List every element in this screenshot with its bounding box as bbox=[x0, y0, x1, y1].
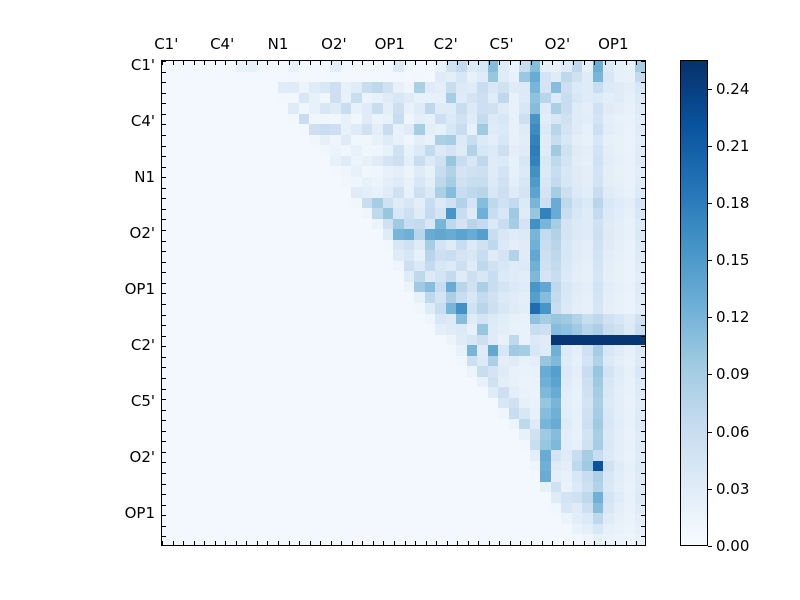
heatmap-cell bbox=[362, 219, 373, 230]
x-tick-top bbox=[499, 61, 500, 65]
x-tick-bottom bbox=[183, 541, 184, 545]
y-tick-label: OP1 bbox=[125, 280, 155, 298]
heatmap-cell bbox=[446, 82, 457, 93]
heatmap-cell bbox=[225, 61, 236, 72]
heatmap-cell bbox=[299, 492, 310, 503]
y-tick-label: C1' bbox=[131, 56, 155, 74]
heatmap-cell bbox=[435, 103, 446, 114]
heatmap-cell bbox=[467, 429, 478, 440]
heatmap-cell bbox=[257, 398, 268, 409]
y-tick-left bbox=[162, 526, 166, 527]
heatmap-cell bbox=[414, 471, 425, 482]
x-tick-top bbox=[605, 61, 606, 65]
heatmap-cell bbox=[204, 208, 215, 219]
heatmap-cell bbox=[456, 261, 467, 272]
heatmap-cell bbox=[246, 198, 257, 209]
heatmap-cell bbox=[414, 229, 425, 240]
heatmap-cell bbox=[530, 482, 541, 493]
heatmap-cell bbox=[414, 429, 425, 440]
heatmap-cell bbox=[414, 408, 425, 419]
heatmap-cell bbox=[551, 135, 562, 146]
heatmap-cell bbox=[414, 513, 425, 524]
heatmap-cell bbox=[593, 198, 604, 209]
heatmap-cell bbox=[246, 335, 257, 346]
heatmap-cell bbox=[624, 408, 635, 419]
heatmap-cell bbox=[635, 166, 646, 177]
heatmap-cell bbox=[446, 492, 457, 503]
heatmap-axes[interactable] bbox=[161, 60, 646, 546]
heatmap-cell bbox=[225, 356, 236, 367]
heatmap-cell bbox=[551, 471, 562, 482]
x-tick-top bbox=[563, 61, 564, 65]
heatmap-cell bbox=[173, 534, 184, 545]
heatmap-cell bbox=[309, 503, 320, 514]
heatmap-cell bbox=[540, 450, 551, 461]
heatmap-cell bbox=[330, 292, 341, 303]
y-tick-right bbox=[641, 272, 645, 273]
heatmap-cell bbox=[267, 145, 278, 156]
heatmap-cell bbox=[582, 177, 593, 188]
heatmap-cell bbox=[467, 503, 478, 514]
heatmap-cell bbox=[257, 450, 268, 461]
heatmap-cell bbox=[572, 461, 583, 472]
heatmap-cell bbox=[404, 250, 415, 261]
heatmap-cell bbox=[593, 440, 604, 451]
heatmap-cell bbox=[530, 229, 541, 240]
heatmap-cell bbox=[288, 61, 299, 72]
heatmap-cell bbox=[414, 377, 425, 388]
heatmap-cell bbox=[215, 366, 226, 377]
heatmap-cell bbox=[194, 440, 205, 451]
y-tick-right bbox=[641, 93, 645, 94]
heatmap-cell bbox=[183, 135, 194, 146]
heatmap-cell bbox=[561, 198, 572, 209]
heatmap-cell bbox=[509, 250, 520, 261]
heatmap-cell bbox=[404, 271, 415, 282]
heatmap-cell bbox=[624, 419, 635, 430]
heatmap-cell bbox=[383, 503, 394, 514]
heatmap-cell bbox=[488, 187, 499, 198]
heatmap-cell bbox=[425, 471, 436, 482]
heatmap-cell bbox=[320, 166, 331, 177]
heatmap-cell bbox=[530, 93, 541, 104]
heatmap-cell bbox=[162, 156, 173, 167]
x-tick-bottom bbox=[320, 541, 321, 545]
heatmap-cell bbox=[446, 482, 457, 493]
y-tick-right bbox=[641, 241, 645, 242]
heatmap-cell bbox=[488, 103, 499, 114]
heatmap-cell bbox=[498, 93, 509, 104]
y-tick-right bbox=[641, 135, 645, 136]
heatmap-cell bbox=[267, 345, 278, 356]
heatmap-cell bbox=[551, 72, 562, 83]
heatmap-cell bbox=[393, 208, 404, 219]
heatmap-cell bbox=[614, 103, 625, 114]
heatmap-cell bbox=[341, 324, 352, 335]
heatmap-cell bbox=[351, 345, 362, 356]
x-tick-top bbox=[405, 61, 406, 65]
heatmap-cell bbox=[561, 503, 572, 514]
heatmap-cell bbox=[509, 314, 520, 325]
heatmap-cell bbox=[299, 513, 310, 524]
heatmap-cell bbox=[309, 187, 320, 198]
heatmap-cell bbox=[309, 303, 320, 314]
heatmap-cell bbox=[435, 82, 446, 93]
heatmap-cell bbox=[204, 177, 215, 188]
heatmap-cell bbox=[246, 513, 257, 524]
heatmap-cell bbox=[540, 166, 551, 177]
heatmap-cell bbox=[477, 345, 488, 356]
heatmap-cell bbox=[425, 524, 436, 535]
heatmap-cell bbox=[288, 261, 299, 272]
heatmap-cell bbox=[351, 377, 362, 388]
heatmap-cell bbox=[278, 177, 289, 188]
heatmap-cell bbox=[467, 440, 478, 451]
heatmap-cell bbox=[299, 303, 310, 314]
heatmap-cell bbox=[540, 72, 551, 83]
heatmap-cell bbox=[299, 314, 310, 325]
heatmap-cell bbox=[425, 156, 436, 167]
heatmap-cell bbox=[582, 145, 593, 156]
heatmap-cell bbox=[194, 82, 205, 93]
heatmap-cell bbox=[530, 503, 541, 514]
heatmap-cell bbox=[393, 419, 404, 430]
heatmap-cell bbox=[572, 482, 583, 493]
heatmap-cell bbox=[540, 156, 551, 167]
heatmap-cell bbox=[362, 103, 373, 114]
y-tick-right bbox=[641, 72, 645, 73]
heatmap-cell bbox=[183, 524, 194, 535]
heatmap-cell bbox=[320, 303, 331, 314]
heatmap-cell bbox=[540, 471, 551, 482]
y-tick-right bbox=[641, 346, 645, 347]
heatmap-cell bbox=[320, 82, 331, 93]
heatmap-cell bbox=[236, 103, 247, 114]
heatmap-cell bbox=[173, 450, 184, 461]
heatmap-cell bbox=[488, 356, 499, 367]
heatmap-cell bbox=[425, 408, 436, 419]
y-tick-right bbox=[641, 177, 645, 178]
x-tick-bottom bbox=[215, 541, 216, 545]
heatmap-cell bbox=[551, 387, 562, 398]
heatmap-cell bbox=[278, 524, 289, 535]
heatmap-cell bbox=[215, 471, 226, 482]
y-tick-right bbox=[641, 293, 645, 294]
heatmap-cell bbox=[320, 145, 331, 156]
heatmap-cell bbox=[404, 461, 415, 472]
heatmap-cell bbox=[330, 492, 341, 503]
x-tick-bottom bbox=[468, 541, 469, 545]
heatmap-cell bbox=[614, 335, 625, 346]
heatmap-cell bbox=[173, 503, 184, 514]
heatmap-cell bbox=[194, 282, 205, 293]
heatmap-cell bbox=[404, 429, 415, 440]
heatmap-cell bbox=[341, 377, 352, 388]
heatmap-cell bbox=[320, 429, 331, 440]
heatmap-cell bbox=[194, 314, 205, 325]
heatmap-cell bbox=[288, 356, 299, 367]
heatmap-cell bbox=[236, 398, 247, 409]
heatmap-cell bbox=[456, 292, 467, 303]
heatmap-cell bbox=[183, 440, 194, 451]
x-tick-bottom bbox=[162, 541, 163, 545]
heatmap-cell bbox=[530, 166, 541, 177]
heatmap-cell bbox=[225, 503, 236, 514]
heatmap-cell bbox=[257, 366, 268, 377]
heatmap-cell bbox=[540, 114, 551, 125]
heatmap-cell bbox=[215, 450, 226, 461]
heatmap-cell bbox=[551, 271, 562, 282]
x-tick-top bbox=[289, 61, 290, 65]
heatmap-cell bbox=[341, 503, 352, 514]
heatmap-cell bbox=[603, 282, 614, 293]
heatmap-cell bbox=[467, 82, 478, 93]
x-tick-top bbox=[267, 61, 268, 65]
heatmap-cell bbox=[456, 503, 467, 514]
heatmap-cell bbox=[488, 366, 499, 377]
heatmap-cell bbox=[435, 72, 446, 83]
heatmap-cell bbox=[561, 250, 572, 261]
heatmap-cell bbox=[194, 324, 205, 335]
heatmap-cell bbox=[593, 398, 604, 409]
heatmap-cell bbox=[393, 124, 404, 135]
y-tick-left bbox=[162, 272, 166, 273]
heatmap-cell bbox=[383, 198, 394, 209]
heatmap-cell bbox=[257, 419, 268, 430]
heatmap-cell bbox=[278, 135, 289, 146]
heatmap-cell bbox=[509, 356, 520, 367]
heatmap-cell bbox=[498, 229, 509, 240]
heatmap-cell bbox=[278, 429, 289, 440]
heatmap-cell bbox=[603, 366, 614, 377]
heatmap-cell bbox=[372, 345, 383, 356]
heatmap-cell bbox=[362, 198, 373, 209]
heatmap-cell bbox=[267, 482, 278, 493]
heatmap-cell bbox=[288, 492, 299, 503]
heatmap-cell bbox=[288, 292, 299, 303]
heatmap-cell bbox=[603, 261, 614, 272]
heatmap-cell bbox=[351, 303, 362, 314]
heatmap-cell bbox=[425, 250, 436, 261]
y-tick-right bbox=[641, 410, 645, 411]
heatmap-cell bbox=[341, 229, 352, 240]
heatmap-cell bbox=[330, 93, 341, 104]
heatmap-cell bbox=[183, 324, 194, 335]
heatmap-cell bbox=[614, 250, 625, 261]
heatmap-cell bbox=[404, 377, 415, 388]
heatmap-cell bbox=[183, 461, 194, 472]
heatmap-cell bbox=[383, 356, 394, 367]
heatmap-cell bbox=[530, 398, 541, 409]
heatmap-cell bbox=[509, 503, 520, 514]
heatmap-cell bbox=[278, 198, 289, 209]
heatmap-cell bbox=[330, 177, 341, 188]
heatmap-cell bbox=[540, 398, 551, 409]
heatmap-cell bbox=[351, 82, 362, 93]
colorbar-tick bbox=[708, 260, 712, 261]
heatmap-cell bbox=[509, 524, 520, 535]
heatmap-cell bbox=[414, 482, 425, 493]
heatmap-cell bbox=[467, 145, 478, 156]
heatmap-cell bbox=[582, 93, 593, 104]
heatmap-cell bbox=[257, 229, 268, 240]
heatmap-cell bbox=[236, 177, 247, 188]
heatmap-cell bbox=[456, 356, 467, 367]
heatmap-cell bbox=[624, 345, 635, 356]
heatmap-cell bbox=[383, 145, 394, 156]
heatmap-cell bbox=[246, 229, 257, 240]
heatmap-cell bbox=[614, 461, 625, 472]
heatmap-cell bbox=[278, 387, 289, 398]
heatmap-cell bbox=[383, 513, 394, 524]
heatmap-cell bbox=[267, 135, 278, 146]
heatmap-cell bbox=[530, 261, 541, 272]
heatmap-cell bbox=[351, 145, 362, 156]
heatmap-cell bbox=[425, 482, 436, 493]
heatmap-cell bbox=[288, 271, 299, 282]
heatmap-cell bbox=[404, 324, 415, 335]
heatmap-cell bbox=[299, 366, 310, 377]
heatmap-cell bbox=[309, 314, 320, 325]
heatmap-cell bbox=[519, 82, 530, 93]
heatmap-cell bbox=[330, 282, 341, 293]
heatmap-cell bbox=[414, 271, 425, 282]
heatmap-cell bbox=[593, 93, 604, 104]
heatmap-cell bbox=[362, 450, 373, 461]
heatmap-cell bbox=[330, 356, 341, 367]
heatmap-cell bbox=[509, 229, 520, 240]
heatmap-cell bbox=[246, 503, 257, 514]
heatmap-cell bbox=[509, 440, 520, 451]
heatmap-cell bbox=[614, 177, 625, 188]
heatmap-cell bbox=[614, 145, 625, 156]
y-tick-left bbox=[162, 156, 166, 157]
x-tick-bottom bbox=[225, 541, 226, 545]
heatmap-cell bbox=[551, 398, 562, 409]
heatmap-cell bbox=[488, 219, 499, 230]
heatmap-cell bbox=[320, 250, 331, 261]
heatmap-cell bbox=[372, 219, 383, 230]
x-tick-bottom bbox=[447, 541, 448, 545]
colorbar-tick-label: 0.00 bbox=[716, 537, 749, 555]
heatmap-cell bbox=[257, 93, 268, 104]
y-tick-left bbox=[162, 103, 166, 104]
heatmap-cell bbox=[225, 229, 236, 240]
heatmap-cell bbox=[299, 387, 310, 398]
heatmap-cell bbox=[624, 282, 635, 293]
heatmap-cell bbox=[519, 250, 530, 261]
heatmap-cell bbox=[267, 450, 278, 461]
heatmap-cell bbox=[341, 271, 352, 282]
x-tick-top bbox=[257, 61, 258, 65]
heatmap-cell bbox=[435, 303, 446, 314]
heatmap-cell bbox=[183, 72, 194, 83]
heatmap-cell bbox=[530, 292, 541, 303]
heatmap-cell bbox=[603, 135, 614, 146]
heatmap-cell bbox=[267, 177, 278, 188]
heatmap-cell bbox=[372, 240, 383, 251]
heatmap-cell bbox=[183, 82, 194, 93]
heatmap-cell bbox=[309, 229, 320, 240]
heatmap-cell bbox=[467, 492, 478, 503]
heatmap-cell bbox=[330, 166, 341, 177]
heatmap-cell bbox=[362, 387, 373, 398]
heatmap-cell bbox=[446, 419, 457, 430]
heatmap-cell bbox=[341, 219, 352, 230]
heatmap-cell bbox=[278, 534, 289, 545]
heatmap-cell bbox=[603, 492, 614, 503]
heatmap-cell bbox=[225, 335, 236, 346]
x-tick-label: O2' bbox=[321, 35, 346, 53]
heatmap-cell bbox=[225, 240, 236, 251]
heatmap-cell bbox=[393, 145, 404, 156]
heatmap-cell bbox=[278, 61, 289, 72]
heatmap-cell bbox=[204, 156, 215, 167]
heatmap-cell bbox=[498, 135, 509, 146]
heatmap-cell bbox=[362, 303, 373, 314]
x-tick-top bbox=[320, 61, 321, 65]
heatmap-cell bbox=[257, 208, 268, 219]
heatmap-cell bbox=[498, 82, 509, 93]
heatmap-cell bbox=[173, 240, 184, 251]
heatmap-cell bbox=[330, 261, 341, 272]
heatmap-cell bbox=[530, 271, 541, 282]
heatmap-cell bbox=[278, 219, 289, 230]
y-tick-right bbox=[641, 505, 645, 506]
heatmap-cell bbox=[383, 114, 394, 125]
heatmap-cell bbox=[278, 145, 289, 156]
heatmap-cell-grid bbox=[162, 61, 645, 545]
heatmap-cell bbox=[593, 524, 604, 535]
heatmap-cell bbox=[467, 345, 478, 356]
heatmap-cell bbox=[582, 114, 593, 125]
heatmap-cell bbox=[425, 82, 436, 93]
heatmap-cell bbox=[404, 198, 415, 209]
heatmap-cell bbox=[278, 282, 289, 293]
x-tick-label: O2' bbox=[545, 35, 570, 53]
heatmap-cell bbox=[246, 492, 257, 503]
heatmap-cell bbox=[204, 524, 215, 535]
heatmap-cell bbox=[456, 345, 467, 356]
heatmap-cell bbox=[467, 335, 478, 346]
heatmap-cell bbox=[530, 366, 541, 377]
heatmap-cell bbox=[330, 471, 341, 482]
x-tick-bottom bbox=[383, 541, 384, 545]
heatmap-cell bbox=[362, 440, 373, 451]
heatmap-cell bbox=[425, 324, 436, 335]
heatmap-cell bbox=[414, 93, 425, 104]
heatmap-cell bbox=[635, 198, 646, 209]
heatmap-cell bbox=[383, 482, 394, 493]
colorbar-tick bbox=[708, 546, 712, 547]
heatmap-cell bbox=[351, 187, 362, 198]
heatmap-cell bbox=[341, 103, 352, 114]
heatmap-cell bbox=[614, 208, 625, 219]
heatmap-cell bbox=[320, 282, 331, 293]
heatmap-cell bbox=[446, 450, 457, 461]
heatmap-cell bbox=[624, 219, 635, 230]
heatmap-cell bbox=[236, 440, 247, 451]
heatmap-cell bbox=[341, 513, 352, 524]
heatmap-cell bbox=[383, 250, 394, 261]
heatmap-cell bbox=[351, 366, 362, 377]
heatmap-cell bbox=[425, 103, 436, 114]
heatmap-cell bbox=[614, 482, 625, 493]
heatmap-cell bbox=[393, 219, 404, 230]
heatmap-cell bbox=[435, 513, 446, 524]
y-tick-right bbox=[641, 262, 645, 263]
heatmap-cell bbox=[614, 503, 625, 514]
